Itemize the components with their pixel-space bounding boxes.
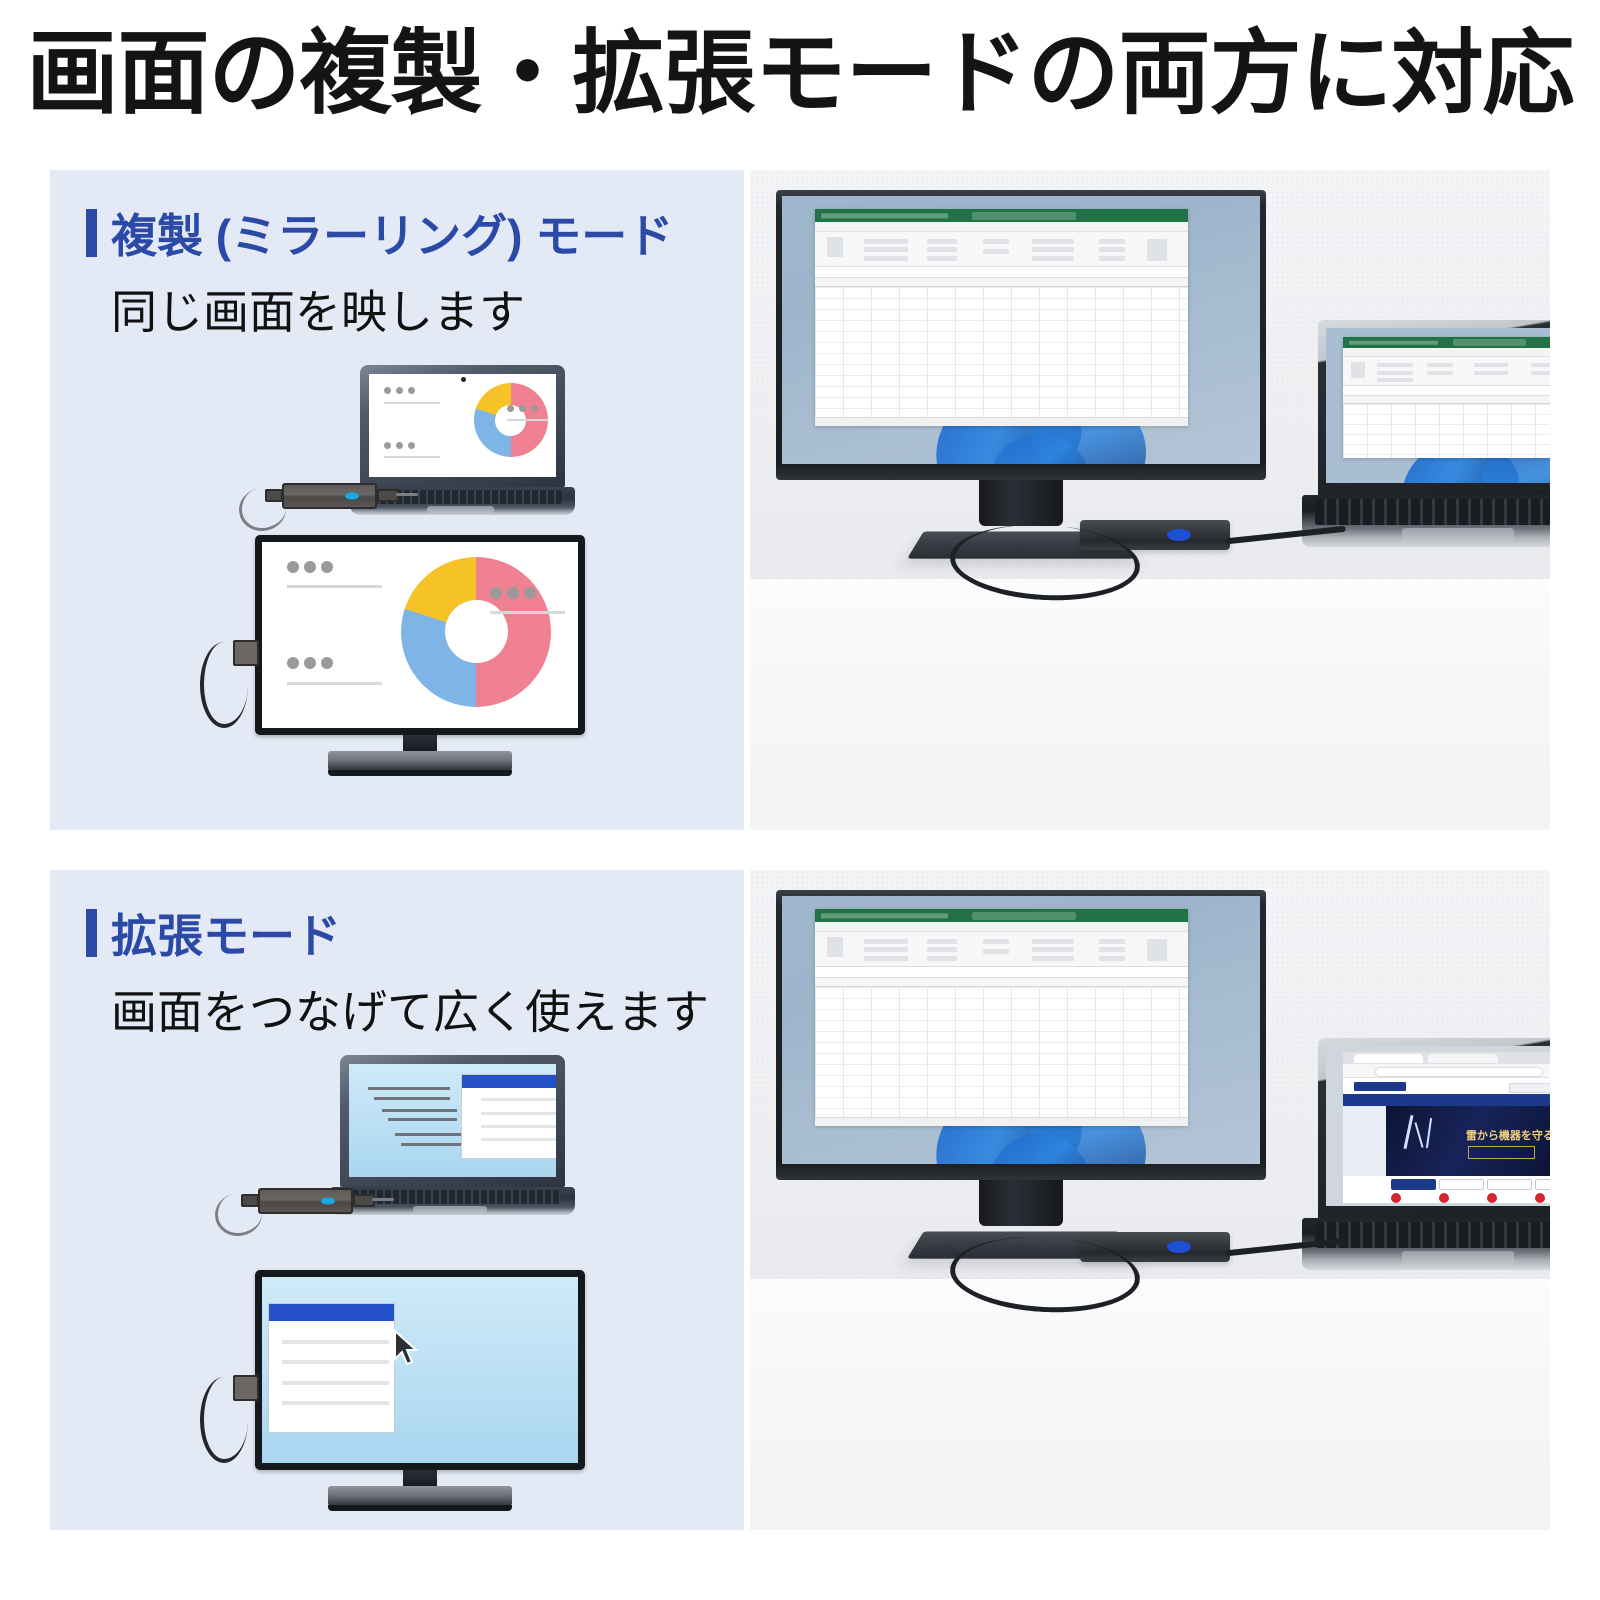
mirror-monitor-excel-window — [815, 209, 1188, 426]
accent-bar-icon-2 — [86, 909, 97, 957]
site-hero-banner: 雷から機器を守る! — [1343, 1106, 1550, 1176]
extend-heading-block: 拡張モード 画面をつなげて広く使えます — [86, 900, 709, 1042]
hero-banner-text: 雷から機器を守る! — [1466, 1127, 1550, 1143]
tv-callout-2 — [490, 587, 536, 599]
extend-laptop-screen — [349, 1064, 556, 1177]
excel-status-bar — [815, 417, 1188, 426]
callout-1 — [384, 387, 415, 394]
site-product-row — [1343, 1190, 1550, 1202]
extend-tv-screen — [262, 1277, 578, 1463]
extend-illustration-panel: 拡張モード 画面をつなげて広く使えます — [50, 870, 744, 1530]
page-title: 画面の複製・拡張モードの両方に対応 — [0, 26, 1600, 123]
mirror-laptop-photo-screen — [1326, 328, 1550, 483]
extend-monitor-screen — [782, 896, 1260, 1164]
site-category-buttons[interactable] — [1343, 1176, 1550, 1190]
extend-mode-title-text: 拡張モード — [111, 900, 341, 966]
tv-window-title-bar — [269, 1304, 393, 1321]
site-logo-bar — [1343, 1078, 1550, 1094]
extend-photo-panel: 雷から機器を守る! — [750, 870, 1550, 1530]
adapter-led-icon-2 — [321, 1198, 335, 1205]
mirror-monitor-screen — [782, 196, 1260, 464]
tv-callout-3 — [287, 657, 333, 669]
mirror-photo-laptop — [1318, 320, 1550, 520]
photo-desk-2 — [750, 1279, 1550, 1530]
mirror-mode-title-text: 複製 (ミラーリング) モード — [111, 200, 673, 266]
site-nav-bar[interactable] — [1343, 1094, 1550, 1106]
mouse-cursor-icon — [392, 1329, 422, 1367]
mirror-photo-monitor — [776, 190, 1266, 480]
webcam-icon — [461, 377, 466, 382]
adapter-logo-icon — [1167, 529, 1191, 541]
window-title-bar — [462, 1075, 556, 1088]
extend-monitor-excel-window — [815, 909, 1188, 1126]
extend-tv-window — [268, 1303, 394, 1433]
mirror-tv-cable — [200, 642, 248, 728]
browser-url-bar[interactable] — [1343, 1064, 1550, 1078]
section-extend-mode: 拡張モード 画面をつなげて広く使えます — [50, 870, 1550, 1530]
extend-laptop-photo-screen: 雷から機器を守る! — [1326, 1046, 1550, 1206]
tv-callout-1 — [287, 561, 333, 573]
section-mirror-mode: 複製 (ミラーリング) モード 同じ画面を映します — [50, 170, 1550, 830]
mirror-heading-block: 複製 (ミラーリング) モード 同じ画面を映します — [86, 200, 673, 342]
mirror-illustration-adapter — [282, 483, 377, 509]
callout-2 — [507, 405, 538, 412]
mirror-laptop-screen — [369, 374, 556, 477]
extend-photo-monitor — [776, 890, 1266, 1180]
extend-tv-cable — [200, 1377, 248, 1463]
mirror-mode-subtitle: 同じ画面を映します — [111, 276, 673, 342]
extend-photo-laptop: 雷から機器を守る! — [1318, 1038, 1550, 1238]
mirror-mode-title: 複製 (ミラーリング) モード — [86, 200, 673, 266]
extend-illustration-tv — [255, 1270, 585, 1500]
adapter-led-icon — [345, 493, 359, 500]
callout-3 — [384, 442, 415, 449]
mirror-laptop-excel-window — [1343, 337, 1550, 458]
adapter-logo-icon-2 — [1167, 1241, 1191, 1253]
excel-cell-grid — [815, 287, 1188, 417]
mirror-tv-donut-chart — [401, 557, 551, 707]
mirror-illustration-panel: 複製 (ミラーリング) モード 同じ画面を映します — [50, 170, 744, 830]
mirror-tv-screen — [262, 542, 578, 728]
extend-illustration-laptop — [330, 1055, 575, 1215]
extend-mode-title: 拡張モード — [86, 900, 709, 966]
extend-illustration-adapter — [258, 1188, 353, 1214]
excel-menu-tabs — [815, 222, 1188, 232]
extend-mode-subtitle: 画面をつなげて広く使えます — [111, 976, 709, 1042]
mirror-illustration-tv — [255, 535, 585, 765]
excel-title-bar — [815, 209, 1188, 222]
excel-formula-bar — [815, 267, 1188, 278]
extend-laptop-window — [461, 1074, 556, 1159]
excel-ribbon — [815, 232, 1188, 267]
mirror-photo-panel — [750, 170, 1550, 830]
accent-bar-icon — [86, 209, 97, 257]
browser-tab-strip[interactable] — [1343, 1052, 1550, 1064]
photo-desk — [750, 579, 1550, 830]
excel-column-headers — [815, 278, 1188, 287]
browser-window: 雷から機器を守る! — [1343, 1052, 1550, 1202]
